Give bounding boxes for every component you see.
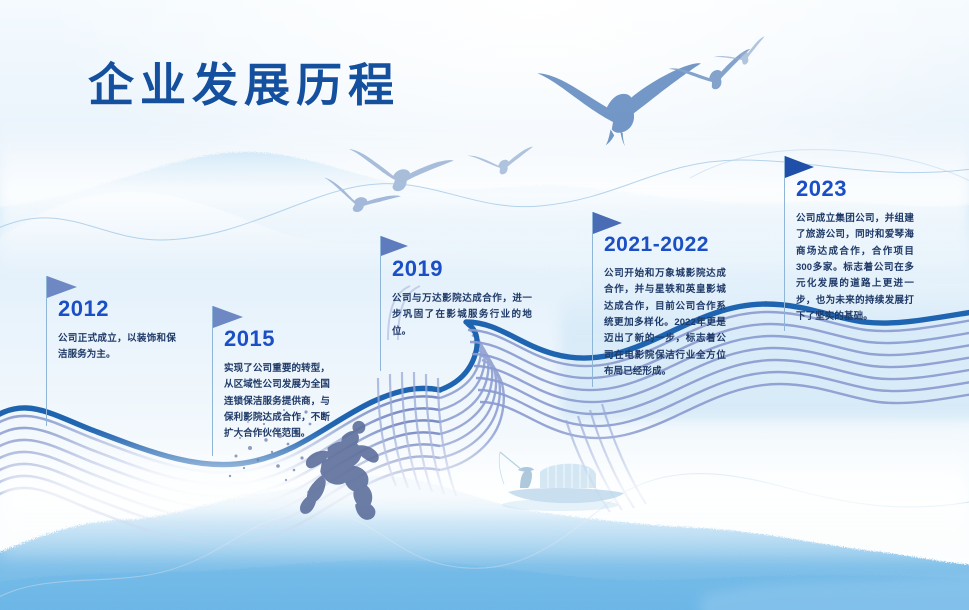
poster-canvas: 企业发展历程 2012 公司正式成立，以装饰和保洁服务为主。 2015 实现了公…: [0, 0, 969, 610]
milestone-text-2012: 公司正式成立，以装饰和保洁服务为主。: [58, 331, 176, 364]
milestone-text-2015: 实现了公司重要的转型，从区域性公司发展为全国连锁保洁服务提供商，与保利影院达成合…: [224, 361, 330, 443]
milestone-text-2023: 公司成立集团公司，并组建了旅游公司，同时和爱琴海商场达成合作，合作项目300多家…: [796, 211, 914, 325]
timeline-milestone-2015[interactable]: 2015 实现了公司重要的转型，从区域性公司发展为全国连锁保洁服务提供商，与保利…: [212, 306, 330, 443]
milestone-year-2019: 2019: [392, 258, 532, 280]
milestone-year-2021-2022: 2021-2022: [604, 234, 726, 255]
timeline-milestone-2012[interactable]: 2012 公司正式成立，以装饰和保洁服务为主。: [46, 276, 176, 364]
timeline-milestone-2019[interactable]: 2019 公司与万达影院达成合作，进一步巩固了在影城服务行业的地位。: [380, 236, 532, 340]
mist-band-lower: [0, 430, 969, 560]
timeline-milestone-2023[interactable]: 2023 公司成立集团公司，并组建了旅游公司，同时和爱琴海商场达成合作，合作项目…: [784, 156, 914, 325]
milestone-year-2015: 2015: [224, 328, 330, 350]
milestone-text-2021-2022: 公司开始和万象城影院达成合作，并与星轶和英皇影城达成合作，目前公司合作系统更加多…: [604, 266, 726, 380]
page-title: 企业发展历程: [88, 60, 400, 111]
timeline-milestone-2021-2022[interactable]: 2021-2022 公司开始和万象城影院达成合作，并与星轶和英皇影城达成合作，目…: [592, 212, 726, 380]
milestone-text-2019: 公司与万达影院达成合作，进一步巩固了在影城服务行业的地位。: [392, 291, 532, 340]
milestone-year-2023: 2023: [796, 178, 914, 200]
milestone-year-2012: 2012: [58, 298, 176, 320]
